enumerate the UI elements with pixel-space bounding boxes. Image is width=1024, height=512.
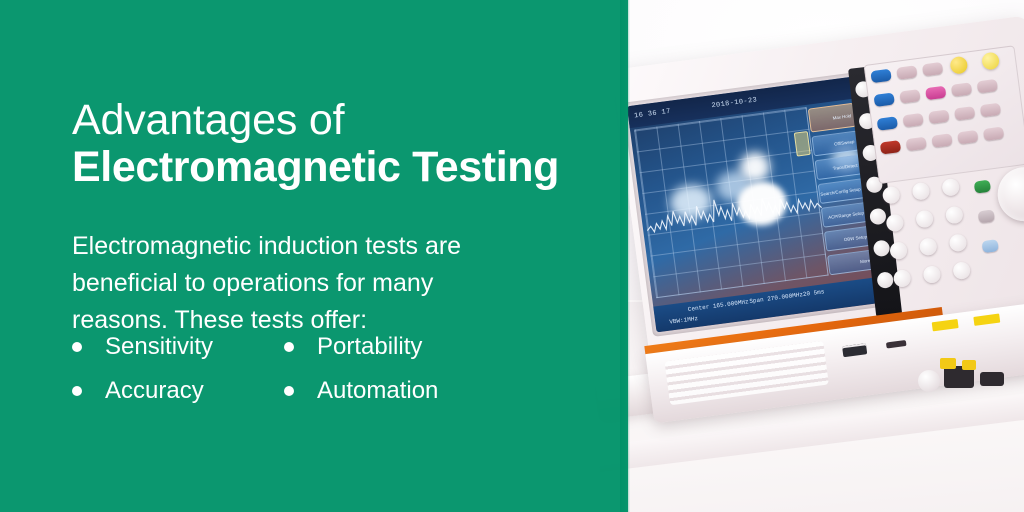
bullet-dot-icon: [72, 386, 82, 396]
analyzer-screen-bezel: 16 36 17 2018-10-23 Max Hold: [622, 72, 887, 337]
func-key-5: [977, 79, 998, 94]
title-line-2: Electromagnetic Testing: [72, 142, 612, 192]
screen-vbw: VBW:1MHz: [669, 315, 698, 326]
numpad-key-0: [922, 265, 941, 284]
screen-date: 2018-10-23: [710, 89, 758, 117]
func-key-red: [880, 140, 901, 155]
side-key-7: [876, 271, 894, 289]
benefit-label-portability: Portability: [317, 333, 422, 361]
clutter-round-object: [918, 370, 940, 392]
list-item: Portability: [284, 333, 496, 361]
func-key-blue-1: [870, 69, 891, 84]
analyzer-function-keypad: [864, 45, 1024, 184]
func-key-2: [922, 62, 943, 77]
screen-sweep: 20 5ms: [802, 288, 824, 298]
func-key-3: [899, 89, 920, 104]
softkey-6: More: [827, 250, 875, 276]
func-key-4: [951, 82, 972, 97]
softkey-3: Search/Config Setup: [818, 178, 866, 204]
numpad-key-5: [915, 209, 934, 228]
list-item: Accuracy: [72, 377, 284, 405]
numpad-key-2: [911, 182, 930, 201]
numpad-key-1: [882, 186, 901, 205]
numpad-key-3: [941, 178, 960, 197]
func-key-12: [957, 130, 978, 145]
benefit-label-sensitivity: Sensitivity: [105, 333, 213, 361]
numpad-key-7: [889, 241, 908, 260]
bullet-dot-icon: [284, 386, 294, 396]
clutter-dark-object-2: [980, 372, 1004, 386]
softkey-0: Max Hold: [808, 103, 857, 133]
clutter-yellow-tag-2: [962, 360, 976, 370]
aux-port-icon: [886, 340, 907, 349]
list-item: Sensitivity: [72, 333, 284, 361]
infographic-canvas: 16 36 17 2018-10-23 Max Hold: [0, 0, 1024, 512]
bullet-dot-icon: [284, 342, 294, 352]
usb-port-icon: [842, 343, 867, 357]
benefit-label-accuracy: Accuracy: [105, 377, 204, 405]
list-item: Automation: [284, 377, 496, 405]
func-key-11: [931, 133, 952, 148]
func-key-8: [954, 106, 975, 121]
side-key-6: [873, 239, 891, 257]
func-key-7: [928, 109, 949, 124]
func-key-10: [906, 137, 927, 152]
softkey-1: Off/Sweep: [811, 131, 859, 157]
func-key-1: [896, 65, 917, 80]
screen-center-freq: Center 165.000MHz: [687, 298, 749, 313]
screen-span: Span 270.000MHz: [749, 291, 803, 305]
softkey-5: OBW Setup: [824, 226, 872, 252]
bullet-dot-icon: [72, 342, 82, 352]
func-key-6: [902, 113, 923, 128]
title-line-1: Advantages of: [72, 96, 612, 144]
screen-marker-box: [794, 131, 811, 157]
numpad-key-4: [885, 213, 904, 232]
analyzer-vent-grille: [665, 341, 829, 406]
func-key-blue-2: [874, 92, 895, 107]
func-key-yellow-1: [949, 56, 968, 75]
numpad-key-8: [919, 237, 938, 256]
softkey-4: ACP/Range Setup: [821, 202, 869, 228]
screen-time: 16 36 17: [633, 101, 672, 128]
benefits-list: Sensitivity Portability Accuracy Automat…: [72, 325, 572, 413]
func-key-blue-3: [877, 116, 898, 131]
numpad-key-6: [945, 206, 964, 225]
bench-clutter: [918, 352, 1024, 412]
warning-label-1: [932, 319, 959, 331]
warning-label-2: [973, 314, 1000, 326]
func-key-pink: [925, 86, 946, 101]
benefit-label-automation: Automation: [317, 377, 438, 405]
page-title: Advantages of Electromagnetic Testing: [72, 96, 612, 192]
func-key-yellow-2: [981, 51, 1000, 70]
softkey-2: Trace/Detect: [815, 154, 863, 180]
numpad-key-dot: [893, 269, 912, 288]
numpad-key-enter: [952, 261, 971, 280]
numpad-key-9: [948, 233, 967, 252]
func-key-9: [980, 103, 1001, 118]
text-content: Advantages of Electromagnetic Testing El…: [0, 0, 628, 512]
clutter-yellow-tag-1: [940, 358, 956, 369]
func-key-13: [983, 126, 1004, 141]
analyzer-numeric-keypad: [882, 174, 1001, 307]
body-paragraph: Electromagnetic induction tests are bene…: [72, 228, 524, 339]
analyzer-screen: 16 36 17 2018-10-23 Max Hold: [627, 77, 883, 333]
